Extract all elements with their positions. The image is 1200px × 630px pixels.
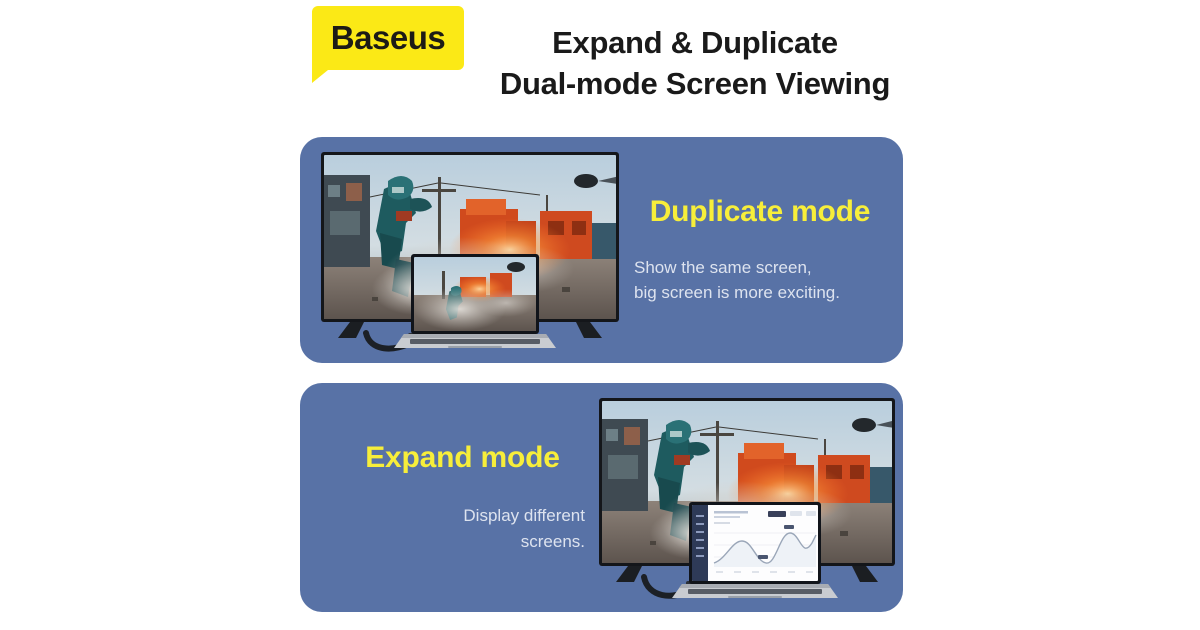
page-title-line-2: Dual-mode Screen Viewing bbox=[460, 63, 930, 104]
expand-mode-text-block: Expand mode Display different screens. bbox=[330, 383, 595, 612]
duplicate-mode-artwork bbox=[310, 137, 630, 363]
duplicate-mode-subtitle: Show the same screen, big screen is more… bbox=[630, 255, 840, 306]
page-title-line-1: Expand & Duplicate bbox=[460, 22, 930, 63]
panel-duplicate-mode: Duplicate mode Show the same screen, big… bbox=[300, 137, 903, 363]
expand-mode-title: Expand mode bbox=[365, 441, 560, 475]
expand-mode-artwork bbox=[590, 383, 903, 612]
duplicate-mode-subtitle-line-2: big screen is more exciting. bbox=[634, 280, 840, 306]
expand-mode-subtitle-line-1: Display different bbox=[463, 503, 585, 529]
duplicate-mode-subtitle-line-1: Show the same screen, bbox=[634, 255, 840, 281]
header: Baseus Expand & Duplicate Dual-mode Scre… bbox=[0, 0, 1200, 120]
duplicate-mode-text-block: Duplicate mode Show the same screen, big… bbox=[630, 137, 890, 363]
panel-expand-mode: Expand mode Display different screens. bbox=[300, 383, 903, 612]
expand-mode-subtitle-line-2: screens. bbox=[463, 529, 585, 555]
brand-logo-text: Baseus bbox=[312, 6, 464, 70]
tv-and-laptop-expand-illustration bbox=[590, 383, 903, 612]
page-title: Expand & Duplicate Dual-mode Screen View… bbox=[460, 22, 930, 104]
duplicate-mode-title: Duplicate mode bbox=[650, 195, 871, 229]
baseus-logo-badge: Baseus bbox=[312, 6, 464, 70]
tv-and-laptop-duplicate-illustration bbox=[310, 137, 630, 363]
expand-mode-subtitle: Display different screens. bbox=[463, 503, 595, 554]
